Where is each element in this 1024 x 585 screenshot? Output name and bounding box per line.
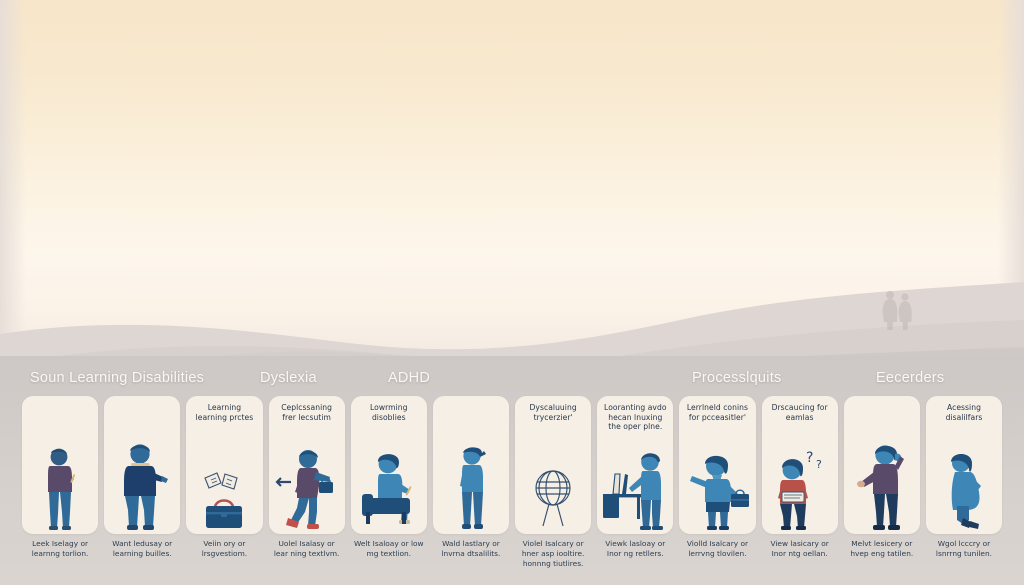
card-caption-8: Violld Isalcary or lerrvng tlovilen. (681, 539, 753, 559)
card-2[interactable]: Learning learning prctes (186, 396, 262, 534)
card-caption-5: Wald lastlary or lnvrna dtsalilits. (435, 539, 507, 559)
card-caption-2: Veiin ory or lrsgvestiom. (188, 539, 260, 559)
card-label-11: Acessing disalilfars (932, 403, 996, 422)
card-wrapper-7: Looranting avdo hecan lnuxing the oper p… (597, 396, 673, 571)
figure-seated-person-on-sofa-icon (351, 442, 427, 530)
card-label-7: Looranting avdo hecan lnuxing the oper p… (603, 403, 667, 432)
distant-figures-silhouette (878, 288, 922, 332)
section-header-3: Processlquits (692, 370, 781, 386)
card-caption-7: Viewk lasloay or Inor ng retllers. (599, 539, 671, 559)
card-wrapper-6: Dyscaluuing trycerzier' Violel Isalcary … (515, 396, 591, 571)
card-caption-1: Want ledusay or learning builles. (106, 539, 178, 559)
card-caption-3: Uolel Isalasy or lear ning textlvm. (271, 539, 343, 559)
card-wrapper-2: Learning learning prctes (186, 396, 262, 571)
card-10[interactable] (844, 396, 920, 534)
figure-standing-person-gesturing-icon (104, 442, 180, 530)
card-caption-6: Violel Isalcary or hner asp iooltire. ho… (517, 539, 589, 569)
card-label-9: Drscaucing for eamlas (768, 403, 832, 422)
card-wrapper-9: Drscaucing for eamlas ? ? (762, 396, 838, 571)
card-caption-9: View lasicary or Inor ntg oellan. (764, 539, 836, 559)
card-8[interactable]: Lerrlneld conins for pcceasitler' (679, 396, 755, 534)
card-3[interactable]: Ceplcssaning frer lecsutim (269, 396, 345, 534)
card-row: Leek Iselagy or learnng torlion. (0, 396, 1024, 571)
card-wrapper-5: Wald lastlary or lnvrna dtsalilits. (433, 396, 509, 571)
card-4[interactable]: Lowrming disoblies (351, 396, 427, 534)
figure-bag-with-papers-icon (186, 442, 262, 530)
section-header-4: Eecerders (876, 370, 944, 386)
card-wrapper-8: Lerrlneld conins for pcceasitler' (679, 396, 755, 571)
figure-person-in-dress-icon (926, 442, 1002, 530)
illustration-scene: Soun Learning Disabilities Dyslexia ADHD… (0, 0, 1024, 585)
card-wrapper-0: Leek Iselagy or learnng torlion. (22, 396, 98, 571)
card-caption-4: Welt Isaloay or low mg textlion. (353, 539, 425, 559)
card-wrapper-10: Melvt lesicery or hvep eng tatilen. (844, 396, 920, 571)
figure-person-purple-hand-to-head-icon (844, 442, 920, 530)
card-label-8: Lerrlneld conins for pcceasitler' (685, 403, 749, 422)
figure-walking-person-with-bag-icon (269, 442, 345, 530)
card-7[interactable]: Looranting avdo hecan lnuxing the oper p… (597, 396, 673, 534)
card-6[interactable]: Dyscaluuing trycerzier' (515, 396, 591, 534)
figure-standing-person-with-pen-icon (22, 442, 98, 530)
card-label-4: Lowrming disoblies (357, 403, 421, 422)
card-caption-0: Leek Iselagy or learnng torlion. (24, 539, 96, 559)
figure-person-with-briefcase-icon (679, 442, 755, 530)
card-wrapper-1: Want ledusay or learning builles. (104, 396, 180, 571)
card-9[interactable]: Drscaucing for eamlas ? ? (762, 396, 838, 534)
figure-confused-person-question-marks-icon: ? ? (762, 442, 838, 530)
card-wrapper-11: Acessing disalilfars Wgol lcccry or lsnr… (926, 396, 1002, 571)
card-wrapper-3: Ceplcssaning frer lecsutim (269, 396, 345, 571)
section-header-0: Soun Learning Disabilities (30, 370, 204, 386)
card-label-2: Learning learning prctes (192, 403, 256, 422)
card-wrapper-4: Lowrming disoblies (351, 396, 427, 571)
figure-person-at-desk-laptop-icon (597, 442, 673, 530)
card-11[interactable]: Acessing disalilfars (926, 396, 1002, 534)
card-caption-11: Wgol lcccry or lsnrrng tunilen. (928, 539, 1000, 559)
question-mark-icon: ? (806, 450, 813, 466)
card-1[interactable] (104, 396, 180, 534)
card-label-3: Ceplcssaning frer lecsutim (275, 403, 339, 422)
card-0[interactable] (22, 396, 98, 534)
section-header-2: ADHD (388, 370, 430, 386)
figure-globe-wireframe-icon (515, 442, 591, 530)
section-headers-row: Soun Learning Disabilities Dyslexia ADHD… (0, 370, 1024, 394)
card-caption-10: Melvt lesicery or hvep eng tatilen. (846, 539, 918, 559)
question-mark-icon: ? (816, 458, 822, 471)
card-label-6: Dyscaluuing trycerzier' (521, 403, 585, 422)
section-header-1: Dyslexia (260, 370, 317, 386)
figure-standing-person-cap-icon (433, 442, 509, 530)
card-5[interactable] (433, 396, 509, 534)
